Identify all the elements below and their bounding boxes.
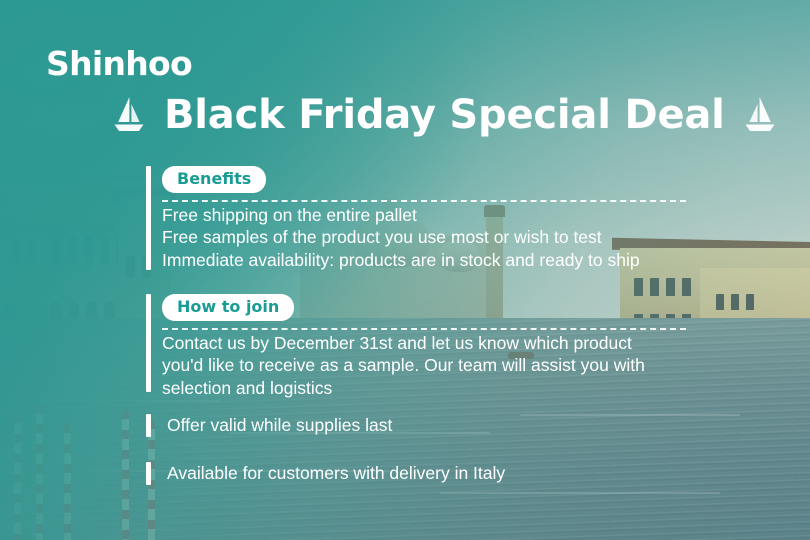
page-title: Black Friday Special Deal <box>164 92 725 138</box>
benefits-label: Benefits <box>162 166 266 193</box>
note-offer-validity: Offer valid while supplies last <box>146 414 392 437</box>
benefit-item: Immediate availability: products are in … <box>162 249 686 271</box>
dashed-divider <box>162 328 686 330</box>
brand-logo: Shinhoo <box>46 44 192 83</box>
note-text: Offer valid while supplies last <box>167 415 392 436</box>
section-accent-bar <box>146 166 151 270</box>
note-accent-bar <box>146 414 151 437</box>
note-accent-bar <box>146 462 151 485</box>
sailboat-icon <box>743 95 777 135</box>
section-accent-bar <box>146 294 151 392</box>
benefits-section: Benefits Free shipping on the entire pal… <box>146 166 686 271</box>
how-to-join-label: How to join <box>162 294 294 321</box>
title-row: Black Friday Special Deal <box>112 92 777 138</box>
poster-content: Shinhoo Black Friday Special Deal <box>0 0 810 540</box>
benefits-list: Free shipping on the entire pallet Free … <box>162 204 686 271</box>
benefit-item: Free shipping on the entire pallet <box>162 204 686 226</box>
dashed-divider <box>162 200 686 202</box>
how-to-join-section: How to join Contact us by December 31st … <box>146 294 686 399</box>
promotional-poster: Shinhoo Black Friday Special Deal <box>0 0 810 540</box>
sailboat-icon <box>112 95 146 135</box>
how-to-join-paragraph: Contact us by December 31st and let us k… <box>162 332 662 399</box>
benefit-item: Free samples of the product you use most… <box>162 226 686 248</box>
note-delivery-region: Available for customers with delivery in… <box>146 462 505 485</box>
note-text: Available for customers with delivery in… <box>167 463 505 484</box>
